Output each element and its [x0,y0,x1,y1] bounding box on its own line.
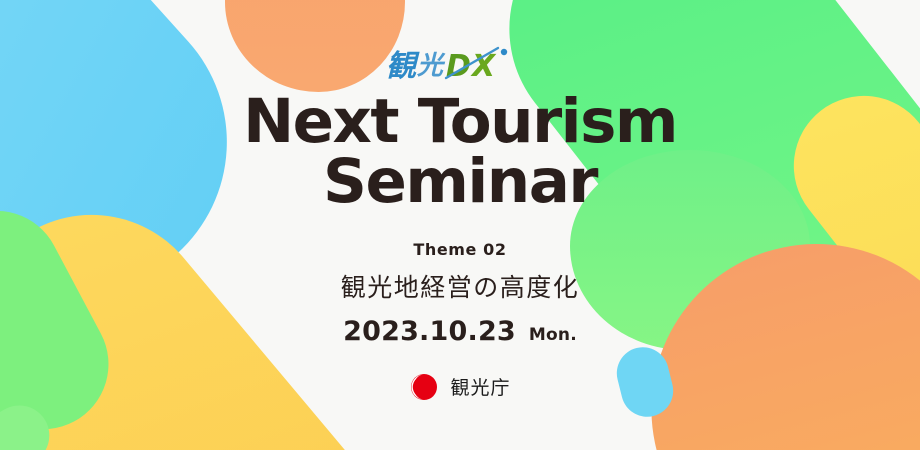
kanko-dx-logo: 観 光 D X 観光DX [386,44,534,86]
organizer-logo: 観光庁 [409,372,510,402]
svg-text:観: 観 [386,49,420,84]
banner-content: 観 光 D X 観光DX Next Tourism Seminar Theme … [0,0,920,450]
organizer-name: 観光庁 [450,373,510,400]
theme-label: Theme 02 [413,240,506,259]
jta-circle-icon [409,372,439,402]
page-title: Next Tourism Seminar [243,92,677,212]
kanko-dx-logo-label: 観光DX [460,65,461,66]
theme-title: 観光地経営の高度化 [341,268,580,304]
event-date: 2023.10.23 Mon. [343,316,577,347]
svg-text:X: X [470,49,497,84]
seminar-banner: 観 光 D X 観光DX Next Tourism Seminar Theme … [0,0,920,450]
event-date-value: 2023.10.23 [343,316,516,347]
event-weekday: Mon. [529,325,577,345]
svg-text:光: 光 [416,51,446,81]
